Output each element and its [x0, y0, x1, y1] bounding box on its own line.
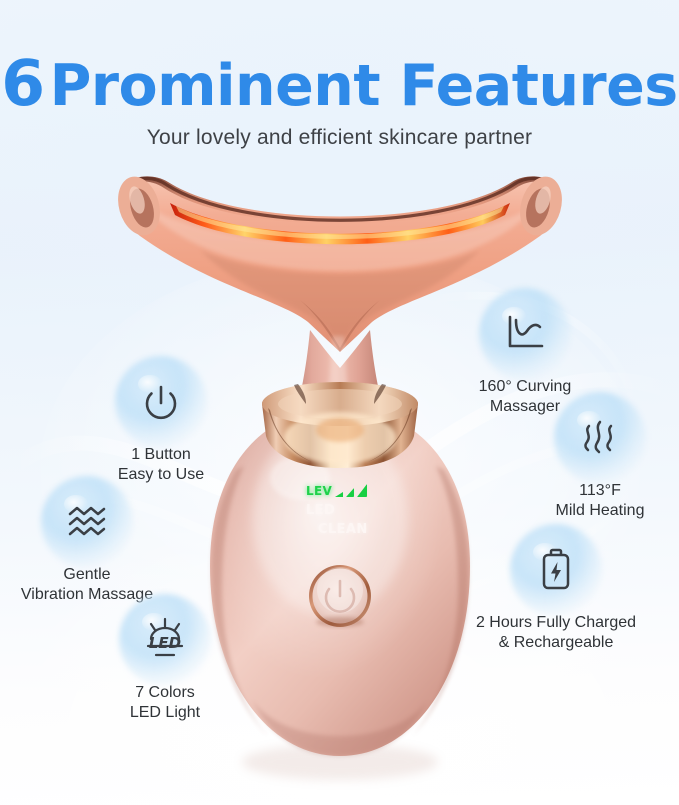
feature-1-button: 1 Button Easy to Use — [96, 366, 226, 484]
led-light-icon: LED — [139, 617, 191, 663]
feature-led-light: LED 7 Colors LED Light — [100, 604, 230, 722]
device-power-button[interactable] — [309, 565, 371, 627]
level-bar-3 — [357, 484, 367, 497]
feature-battery: 2 Hours Fully Charged & Rechargeable — [443, 534, 669, 652]
feature-label: 2 Hours Fully Charged & Rechargeable — [443, 613, 669, 652]
feature-bubble: LED — [129, 604, 201, 676]
device-level-label: LEV — [306, 485, 332, 497]
feature-label: 7 Colors LED Light — [100, 683, 230, 722]
device-level-indicator: LEV — [306, 484, 367, 497]
heat-waves-icon — [578, 416, 622, 460]
curve-graph-icon — [502, 312, 548, 356]
feature-label: 113°F Mild Heating — [525, 481, 675, 520]
level-bar-1 — [335, 492, 343, 497]
feature-bubble — [125, 366, 197, 438]
device-mode-clean: CLEAN — [318, 522, 368, 537]
feature-label: 1 Button Easy to Use — [96, 445, 226, 484]
feature-vibration: Gentle Vibration Massage — [2, 486, 172, 604]
feature-mild-heating: 113°F Mild Heating — [525, 402, 675, 520]
infographic-canvas: 6Prominent Features Your lovely and effi… — [0, 0, 679, 805]
power-icon — [139, 380, 183, 424]
vibration-waves-icon — [64, 502, 110, 542]
level-bar-2 — [346, 488, 354, 497]
feature-bubble — [51, 486, 123, 558]
feature-bubble — [489, 298, 561, 370]
lightning-bolt-icon — [551, 562, 561, 582]
feature-bubble — [564, 402, 636, 474]
feature-bubble — [520, 534, 592, 606]
battery-charging-icon — [536, 547, 576, 593]
led-icon-text: LED — [149, 634, 181, 652]
device-collar-ring — [262, 382, 418, 468]
device-mode-led: LED — [306, 503, 335, 518]
